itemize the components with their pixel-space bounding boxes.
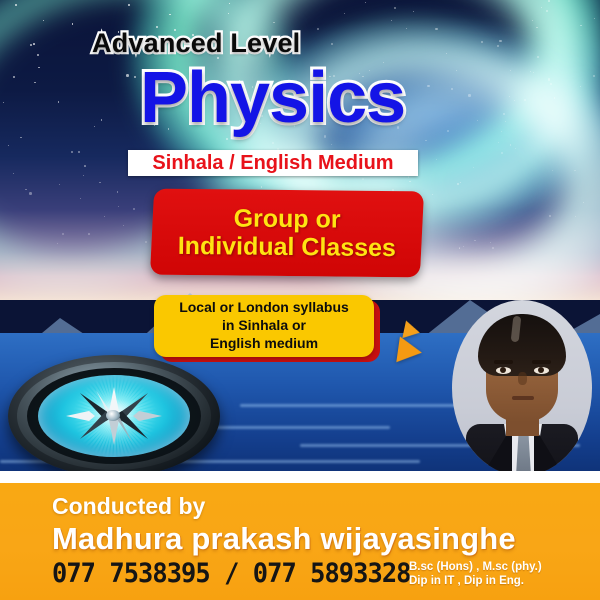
syllabus-line3: English medium	[210, 335, 318, 353]
poster-root: Advanced Level Physics Sinhala / English…	[0, 0, 600, 600]
headline-physics: Physics	[140, 62, 405, 134]
headline-advanced-level: Advanced Level	[92, 28, 300, 59]
footer-divider	[0, 471, 600, 483]
arrow-right-icon-large	[396, 336, 423, 365]
phone-numbers[interactable]: 077 7538395 / 077 5893328	[52, 558, 411, 589]
class-type-line1: Group or	[234, 204, 341, 233]
medium-banner: Sinhala / English Medium	[128, 150, 418, 176]
tutor-portrait	[452, 300, 592, 476]
qualifications: B.sc (Hons) , M.sc (phy.) Dip in IT , Di…	[409, 560, 542, 589]
qualifications-line1: B.sc (Hons) , M.sc (phy.)	[409, 560, 542, 574]
class-type-box: Group or Individual Classes	[150, 189, 424, 278]
syllabus-box: Local or London syllabus in Sinhala or E…	[154, 295, 374, 357]
tutor-name: Madhura prakash wijayasinghe	[52, 521, 516, 557]
conducted-by-label: Conducted by	[52, 493, 205, 520]
compass-icon	[8, 355, 220, 477]
class-type-line2: Individual Classes	[178, 232, 396, 262]
syllabus-line2: in Sinhala or	[222, 317, 306, 335]
qualifications-line2: Dip in IT , Dip in Eng.	[409, 574, 542, 588]
syllabus-line1: Local or London syllabus	[179, 299, 349, 317]
medium-banner-text: Sinhala / English Medium	[128, 150, 418, 176]
